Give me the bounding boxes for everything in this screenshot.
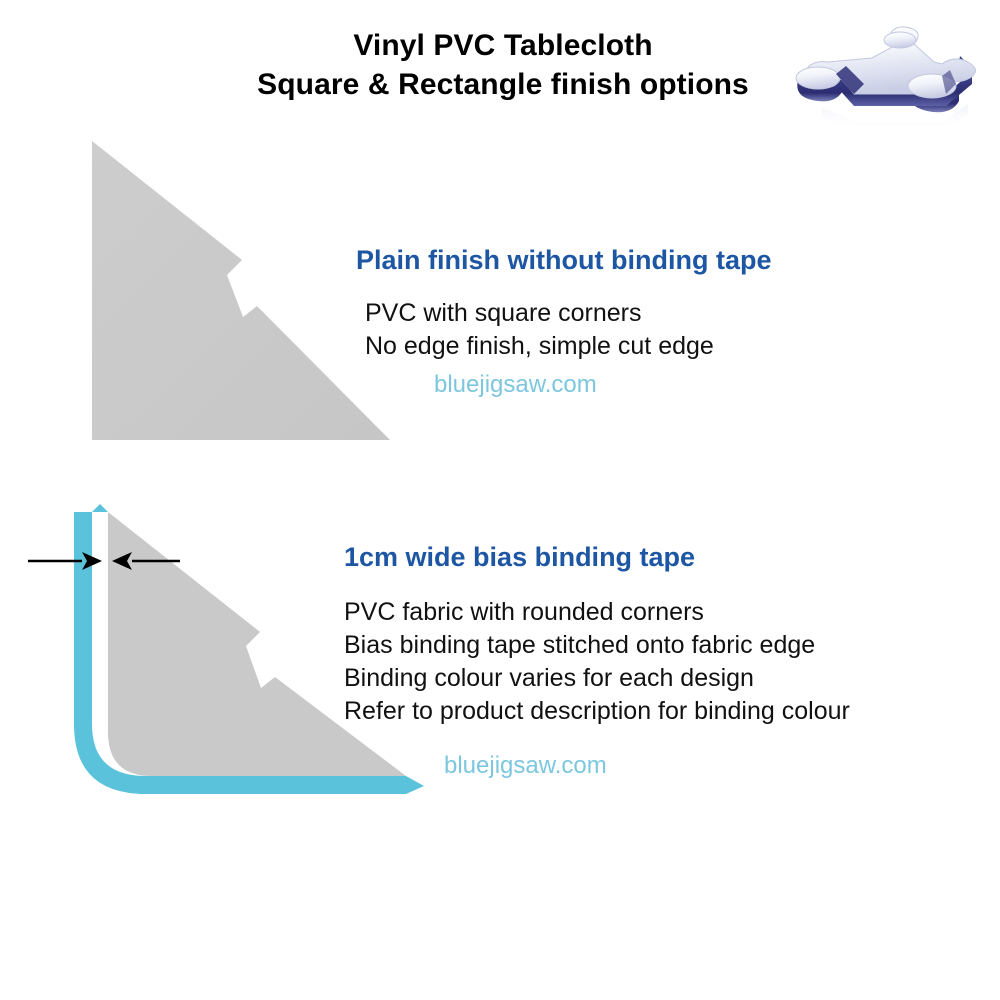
section-heading-plain: Plain finish without binding tape <box>356 243 976 277</box>
section-line: Refer to product description for binding… <box>344 695 994 728</box>
arrow-left-head <box>112 552 132 570</box>
poster-canvas: Vinyl PVC Tablecloth Square & Rectangle … <box>0 0 1000 1000</box>
arrow-right-head <box>82 552 102 570</box>
section-plain-finish: Plain finish without binding tape PVC wi… <box>356 243 976 401</box>
section-line: Bias binding tape stitched onto fabric e… <box>344 629 994 662</box>
section-bias-binding-tape: 1cm wide bias binding tape PVC fabric wi… <box>344 540 994 782</box>
puzzle-piece-logo-icon <box>792 22 984 140</box>
section-line: No edge finish, simple cut edge <box>356 330 976 363</box>
section-line: PVC fabric with rounded corners <box>344 596 994 629</box>
section-line: PVC with square corners <box>356 297 976 330</box>
section-lines-plain: PVC with square corners No edge finish, … <box>356 297 976 363</box>
binding-width-arrows <box>20 536 210 586</box>
section-heading-binding: 1cm wide bias binding tape <box>344 540 994 574</box>
brand-watermark-binding: bluejigsaw.com <box>344 728 994 782</box>
section-line: Binding colour varies for each design <box>344 662 994 695</box>
brand-watermark-plain: bluejigsaw.com <box>356 363 976 401</box>
section-lines-binding: PVC fabric with rounded corners Bias bin… <box>344 596 994 728</box>
